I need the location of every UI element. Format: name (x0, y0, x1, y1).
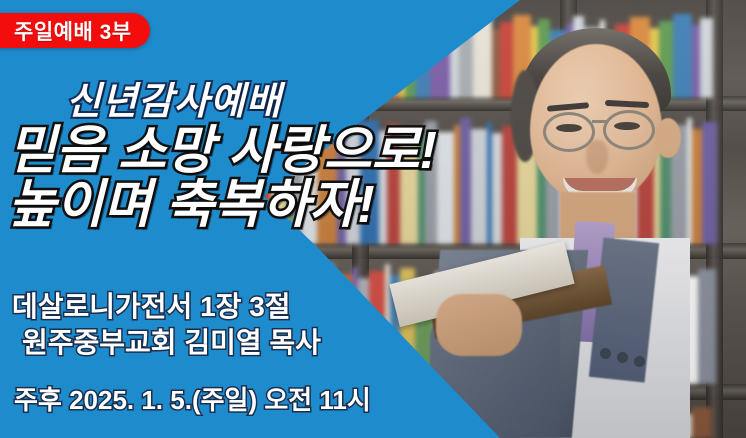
scripture-reference: 데살로니가전서 1장 3절 (12, 289, 321, 325)
service-datetime: 주후 2025. 1. 5.(주일) 오전 11시 (14, 380, 371, 417)
headline-line-2: 높이며 축복하자! (8, 178, 437, 232)
headline-block: 믿음 소망 사랑으로! 높이며 축복하자! (8, 124, 437, 232)
service-badge-label: 주일예배 3부 (14, 16, 132, 46)
service-subtitle: 신년감사예배 (66, 70, 282, 125)
headline-line-1: 믿음 소망 사랑으로! (8, 124, 437, 178)
details-block: 데살로니가전서 1장 3절 원주중부교회 김미열 목사 (12, 289, 321, 362)
banner-image: 주일예배 3부 신년감사예배 믿음 소망 사랑으로! 높이며 축복하자! 데살로… (0, 0, 746, 438)
service-badge: 주일예배 3부 (0, 13, 150, 48)
speaker-name: 원주중부교회 김미열 목사 (12, 325, 321, 361)
